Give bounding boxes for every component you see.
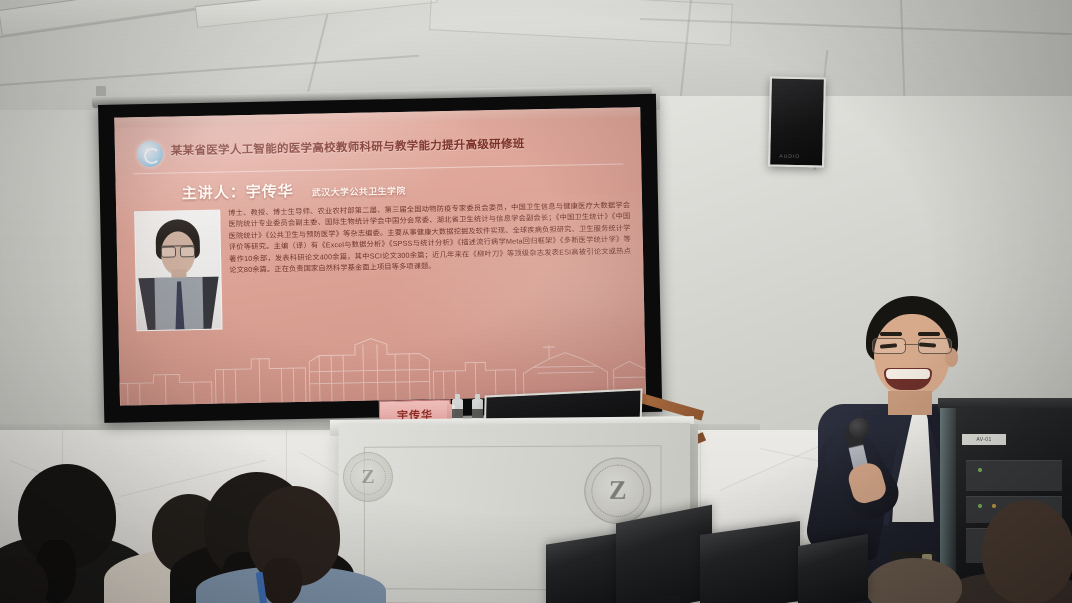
audience-head (982, 500, 1072, 603)
monitor-stand (640, 596, 680, 603)
projection-screen: 某某省医学人工智能的医学高校教师科研与教学能力提升高级研修班 主讲人：宇传华 武… (98, 94, 662, 423)
university-seal-emblem-left: Z (343, 452, 393, 502)
audience-ponytail (262, 558, 302, 603)
university-seal-emblem: Z (584, 457, 651, 524)
lecture-hall-photo: 某某省医学人工智能的医学高校教师科研与教学能力提升高级研修班 主讲人：宇传华 武… (0, 0, 1072, 603)
projected-slide: 某某省医学人工智能的医学高校教师科研与教学能力提升高级研修班 主讲人：宇传华 武… (114, 107, 646, 405)
university-seal-letter: Z (585, 458, 650, 523)
wall-speaker-label: AUDIO (779, 154, 800, 160)
desk-monitor (616, 505, 712, 603)
av-rack-label: AV-01 (962, 434, 1006, 445)
desk-monitor (798, 534, 868, 603)
desk-monitor (700, 521, 800, 603)
wall-mounted-speaker: AUDIO (768, 76, 826, 167)
ceiling-light-panel (195, 0, 438, 28)
